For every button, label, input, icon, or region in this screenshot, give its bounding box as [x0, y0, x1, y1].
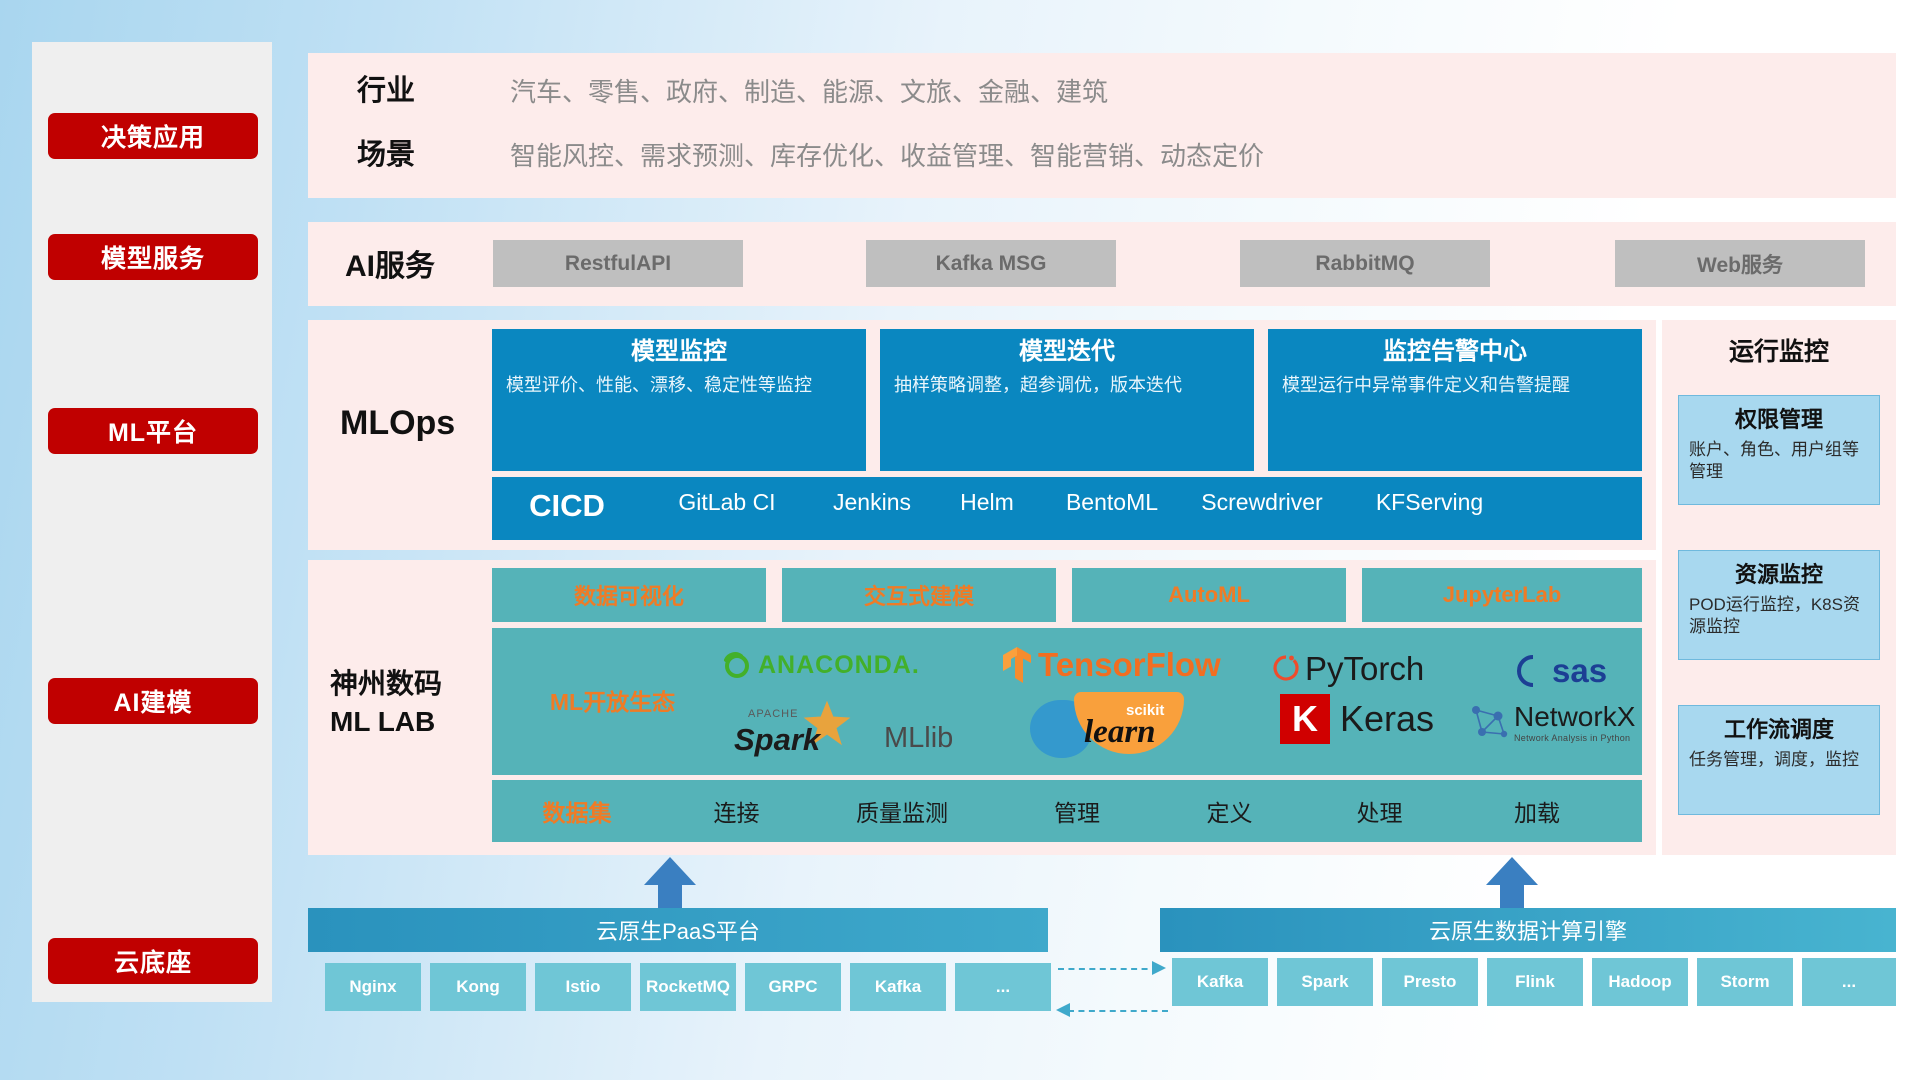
cloud-paas-bar[interactable]: 云原生PaaS平台 — [308, 908, 1048, 952]
ai-service-item-kafka-msg[interactable]: Kafka MSG — [866, 240, 1116, 287]
runtime-monitor-title: 运行监控 — [1662, 332, 1896, 368]
cloud-chip-more-left[interactable]: ... — [955, 963, 1051, 1011]
layer-chip-ai-modeling[interactable]: AI建模 — [48, 678, 258, 724]
monitor-card-desc: 任务管理，调度，监控 — [1689, 749, 1869, 771]
scikit-learn-logo: scikit learn — [1030, 692, 1220, 762]
pytorch-mark — [1272, 652, 1300, 686]
layer-chip-label: 模型服务 — [101, 239, 205, 275]
sas-wordmark: sas — [1552, 652, 1607, 690]
networkx-wordmark: NetworkX — [1514, 701, 1635, 733]
dataset-label: 数据集 — [492, 780, 662, 842]
mllab-tool-label: 数据可视化 — [492, 568, 766, 622]
monitor-card-desc: POD运行监控，K8S资源监控 — [1689, 594, 1869, 638]
dataset-item-load[interactable]: 加载 — [1457, 780, 1617, 842]
keras-wordmark: Keras — [1340, 698, 1434, 740]
scenario-text: 智能风控、需求预测、库存优化、收益管理、智能营销、动态定价 — [510, 136, 1264, 173]
dashed-arrow-right-head — [1152, 959, 1170, 977]
left-layer-rail — [32, 42, 272, 1002]
mllab-label: 神州数码 ML LAB — [330, 665, 500, 741]
cloud-paas-title: 云原生PaaS平台 — [596, 914, 760, 946]
cicd-item-helm[interactable]: Helm — [932, 487, 1042, 518]
anaconda-wordmark: ANACONDA. — [758, 651, 920, 680]
mllab-tool-data-visualization[interactable]: 数据可视化 — [492, 568, 766, 622]
pytorch-wordmark: PyTorch — [1305, 650, 1424, 688]
sas-mark — [1516, 654, 1550, 688]
cloud-data-engine-title: 云原生数据计算引擎 — [1429, 914, 1627, 946]
keras-mark: K — [1280, 694, 1330, 744]
ai-service-label: AI服务 — [345, 240, 495, 286]
cloud-chip-istio[interactable]: Istio — [535, 963, 631, 1011]
spark-wordmark: Spark — [734, 722, 820, 758]
cicd-item-gitlab-ci[interactable]: GitLab CI — [642, 487, 812, 518]
layer-chip-label: AI建模 — [113, 683, 192, 719]
cicd-item-jenkins[interactable]: Jenkins — [822, 487, 922, 518]
industry-text: 汽车、零售、政府、制造、能源、文旅、金融、建筑 — [510, 72, 1108, 109]
layer-chip-cloud-base[interactable]: 云底座 — [48, 938, 258, 984]
ai-service-item-label: RestfulAPI — [565, 252, 671, 276]
mlops-label: MLOps — [340, 398, 500, 448]
monitor-card-title: 权限管理 — [1689, 402, 1869, 434]
tensorflow-logo: TensorFlow — [1000, 645, 1221, 685]
ai-service-item-label: RabbitMQ — [1315, 252, 1414, 276]
mllab-tool-label: 交互式建模 — [782, 568, 1056, 622]
cloud-chip-kong[interactable]: Kong — [430, 963, 526, 1011]
mllab-tool-label: JupyterLab — [1362, 568, 1642, 622]
diagram-canvas: 决策应用 模型服务 ML平台 AI建模 云底座 行业 汽车、零售、政府、制造、能… — [0, 0, 1920, 1080]
keras-logo: K Keras — [1280, 694, 1434, 744]
ai-service-item-rabbitmq[interactable]: RabbitMQ — [1240, 240, 1490, 287]
cloud-chip-kafka-right[interactable]: Kafka — [1172, 958, 1268, 1006]
ai-service-item-restfulapi[interactable]: RestfulAPI — [493, 240, 743, 287]
scenario-label: 场景 — [357, 132, 477, 172]
cicd-item-screwdriver[interactable]: Screwdriver — [1182, 487, 1342, 518]
tensorflow-wordmark: TensorFlow — [1038, 646, 1221, 684]
mllab-label-line2: ML LAB — [330, 703, 500, 741]
dataset-item-process[interactable]: 处理 — [1307, 780, 1452, 842]
networkx-mark — [1466, 700, 1510, 744]
ai-service-item-label: Web服务 — [1697, 249, 1783, 279]
layer-chip-label: ML平台 — [108, 413, 198, 449]
anaconda-logo: ANACONDA. — [722, 650, 920, 680]
anaconda-mark — [722, 650, 752, 680]
dataset-item-connect[interactable]: 连接 — [664, 780, 809, 842]
monitor-card-workflow[interactable]: 工作流调度 任务管理，调度，监控 — [1678, 705, 1880, 815]
networkx-logo: NetworkX Network Analysis in Python — [1466, 700, 1635, 744]
mllab-tool-automl[interactable]: AutoML — [1072, 568, 1346, 622]
mlops-card-desc: 模型评价、性能、漂移、稳定性等监控 — [506, 373, 852, 397]
learn-text: learn — [1084, 714, 1156, 751]
dataset-item-manage[interactable]: 管理 — [1002, 780, 1152, 842]
mlops-card-desc: 抽样策略调整，超参调优，版本迭代 — [894, 373, 1240, 397]
cloud-chip-flink[interactable]: Flink — [1487, 958, 1583, 1006]
cloud-chip-storm[interactable]: Storm — [1697, 958, 1793, 1006]
monitor-card-title: 工作流调度 — [1689, 712, 1869, 744]
monitor-card-resource[interactable]: 资源监控 POD运行监控，K8S资源监控 — [1678, 550, 1880, 660]
tensorflow-mark — [1000, 645, 1034, 685]
up-arrow-left — [640, 855, 700, 915]
layer-chip-model-service[interactable]: 模型服务 — [48, 234, 258, 280]
cicd-item-kfserving[interactable]: KFServing — [1352, 487, 1507, 518]
monitor-card-title: 资源监控 — [1689, 557, 1869, 589]
cicd-item-bentoml[interactable]: BentoML — [1052, 487, 1172, 518]
mlops-card-title: 监控告警中心 — [1282, 337, 1628, 367]
cloud-chip-kafka[interactable]: Kafka — [850, 963, 946, 1011]
mlops-card-title: 模型监控 — [506, 337, 852, 367]
mllab-tool-jupyterlab[interactable]: JupyterLab — [1362, 568, 1642, 622]
layer-chip-decision-app[interactable]: 决策应用 — [48, 113, 258, 159]
cicd-bar: CICD GitLab CI Jenkins Helm BentoML Scre… — [492, 477, 1642, 540]
dashed-arrow-left-head — [1052, 1001, 1070, 1019]
ai-service-item-label: Kafka MSG — [936, 252, 1047, 276]
mlops-card-desc: 模型运行中异常事件定义和告警提醒 — [1282, 373, 1628, 397]
sas-logo: sas — [1516, 652, 1607, 690]
dataset-item-define[interactable]: 定义 — [1157, 780, 1302, 842]
industry-label: 行业 — [357, 68, 477, 108]
dataset-bar: 数据集 连接 质量监测 管理 定义 处理 加载 — [492, 780, 1642, 842]
cloud-chip-hadoop[interactable]: Hadoop — [1592, 958, 1688, 1006]
mlops-card-title: 模型迭代 — [894, 337, 1240, 367]
mlops-card-model-monitoring[interactable]: 模型监控 模型评价、性能、漂移、稳定性等监控 — [492, 329, 866, 471]
cloud-data-engine-bar[interactable]: 云原生数据计算引擎 — [1160, 908, 1896, 952]
dashed-arrow-right-line — [1058, 968, 1158, 970]
mllab-tool-label: AutoML — [1072, 568, 1346, 622]
mllib-wordmark: MLlib — [884, 722, 953, 755]
pytorch-logo: PyTorch — [1272, 650, 1424, 688]
ml-ecosystem-label: ML开放生态 — [520, 683, 705, 717]
ai-service-item-web-service[interactable]: Web服务 — [1615, 240, 1865, 287]
monitor-card-permission[interactable]: 权限管理 账户、角色、用户组等管理 — [1678, 395, 1880, 505]
mlops-card-model-iteration[interactable]: 模型迭代 抽样策略调整，超参调优，版本迭代 — [880, 329, 1254, 471]
spark-apache-text: APACHE — [748, 708, 798, 720]
cloud-chip-presto[interactable]: Presto — [1382, 958, 1478, 1006]
spark-mllib-logo: APACHE Spark MLlib — [730, 700, 953, 762]
cloud-chip-nginx[interactable]: Nginx — [325, 963, 421, 1011]
mllab-tool-interactive-modeling[interactable]: 交互式建模 — [782, 568, 1056, 622]
keras-k-letter: K — [1292, 698, 1318, 740]
monitor-card-desc: 账户、角色、用户组等管理 — [1689, 439, 1869, 483]
dataset-item-quality-monitor[interactable]: 质量监测 — [812, 780, 992, 842]
up-arrow-right — [1482, 855, 1542, 915]
dashed-arrow-left-line — [1068, 1010, 1168, 1012]
mlops-card-alert-center[interactable]: 监控告警中心 模型运行中异常事件定义和告警提醒 — [1268, 329, 1642, 471]
layer-chip-ml-platform[interactable]: ML平台 — [48, 408, 258, 454]
mllab-label-line1: 神州数码 — [330, 665, 500, 703]
cloud-chip-grpc[interactable]: GRPC — [745, 963, 841, 1011]
layer-chip-label: 云底座 — [114, 943, 192, 979]
cloud-chip-rocketmq[interactable]: RocketMQ — [640, 963, 736, 1011]
layer-chip-label: 决策应用 — [101, 118, 205, 154]
cicd-label: CICD — [492, 485, 642, 527]
cloud-chip-more-right[interactable]: ... — [1802, 958, 1896, 1006]
networkx-tagline: Network Analysis in Python — [1514, 733, 1635, 743]
cloud-chip-spark[interactable]: Spark — [1277, 958, 1373, 1006]
